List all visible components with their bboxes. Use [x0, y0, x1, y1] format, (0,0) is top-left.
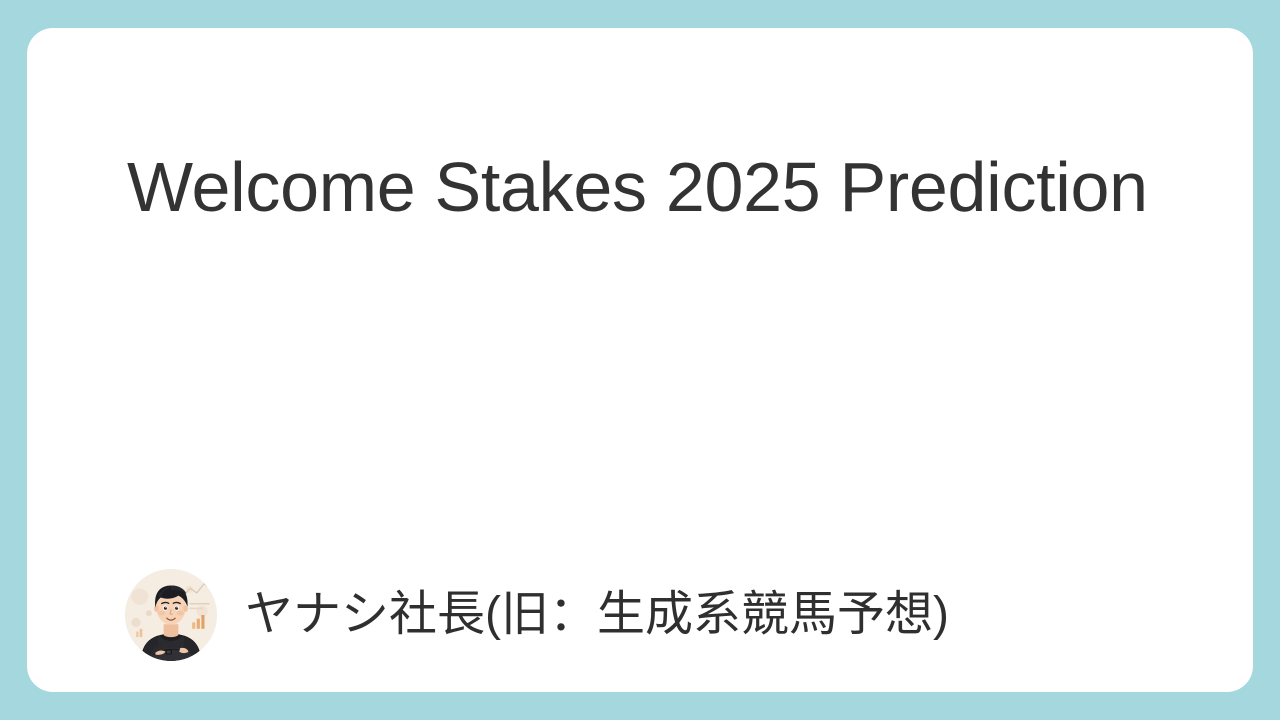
slide-card: Welcome Stakes 2025 Prediction [27, 28, 1253, 692]
author-row: ヤナシ社長(旧：生成系競馬予想) [125, 569, 949, 661]
avatar-portrait-icon [125, 569, 217, 661]
author-name: ヤナシ社長(旧：生成系競馬予想) [245, 589, 949, 642]
page-title: Welcome Stakes 2025 Prediction [127, 147, 1187, 228]
slide-root: Welcome Stakes 2025 Prediction [0, 0, 1280, 720]
avatar [125, 569, 217, 661]
